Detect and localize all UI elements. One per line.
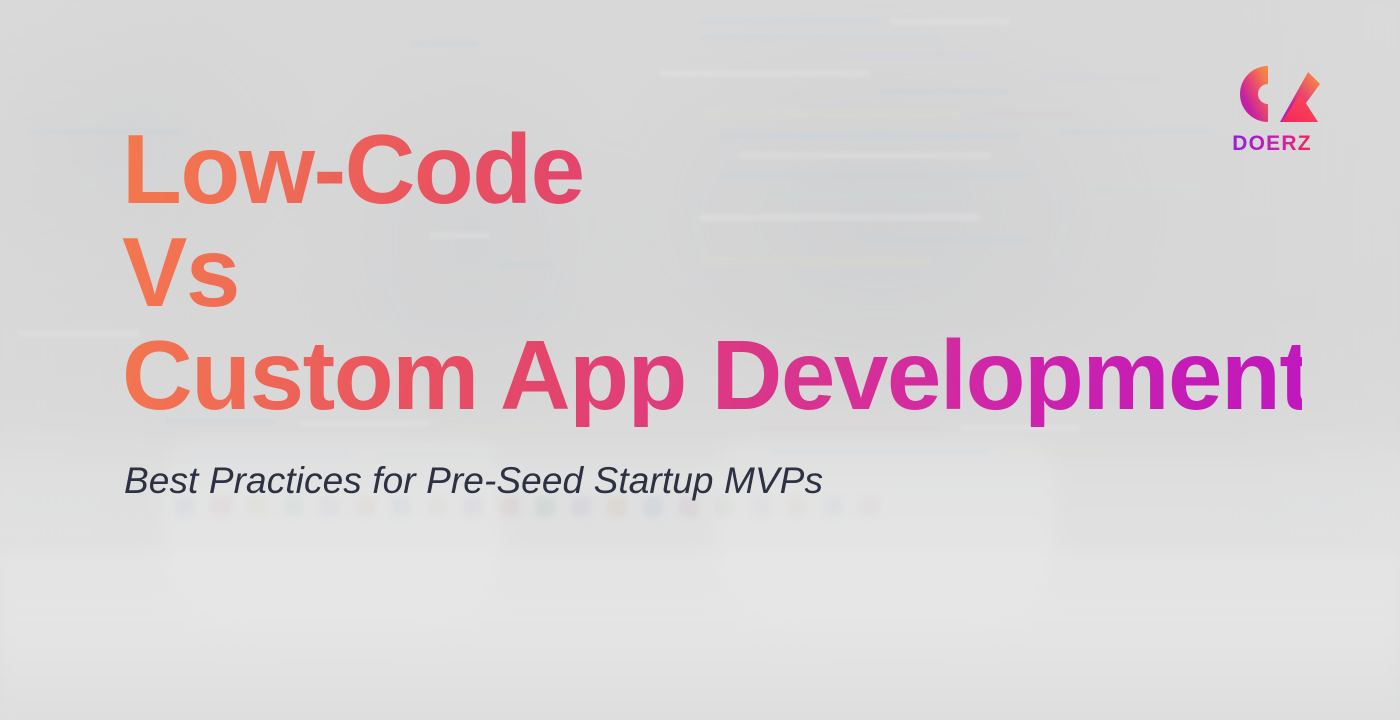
banner-canvas: Low-Code Vs Custom App Development Best …: [0, 0, 1400, 720]
brand-logo: DOERZ: [1222, 58, 1322, 156]
page-subtitle: Best Practices for Pre-Seed Startup MVPs: [124, 460, 823, 502]
headline-line-3: Custom App Development: [122, 324, 1302, 427]
content-layer: Low-Code Vs Custom App Development Best …: [0, 0, 1400, 720]
page-title: Low-Code Vs Custom App Development: [122, 118, 1302, 427]
doerz-logo-mark-icon: [1222, 58, 1322, 130]
headline-line-1: Low-Code: [122, 118, 1302, 221]
brand-wordmark: DOERZ: [1222, 132, 1322, 156]
headline-line-2: Vs: [122, 221, 1302, 324]
